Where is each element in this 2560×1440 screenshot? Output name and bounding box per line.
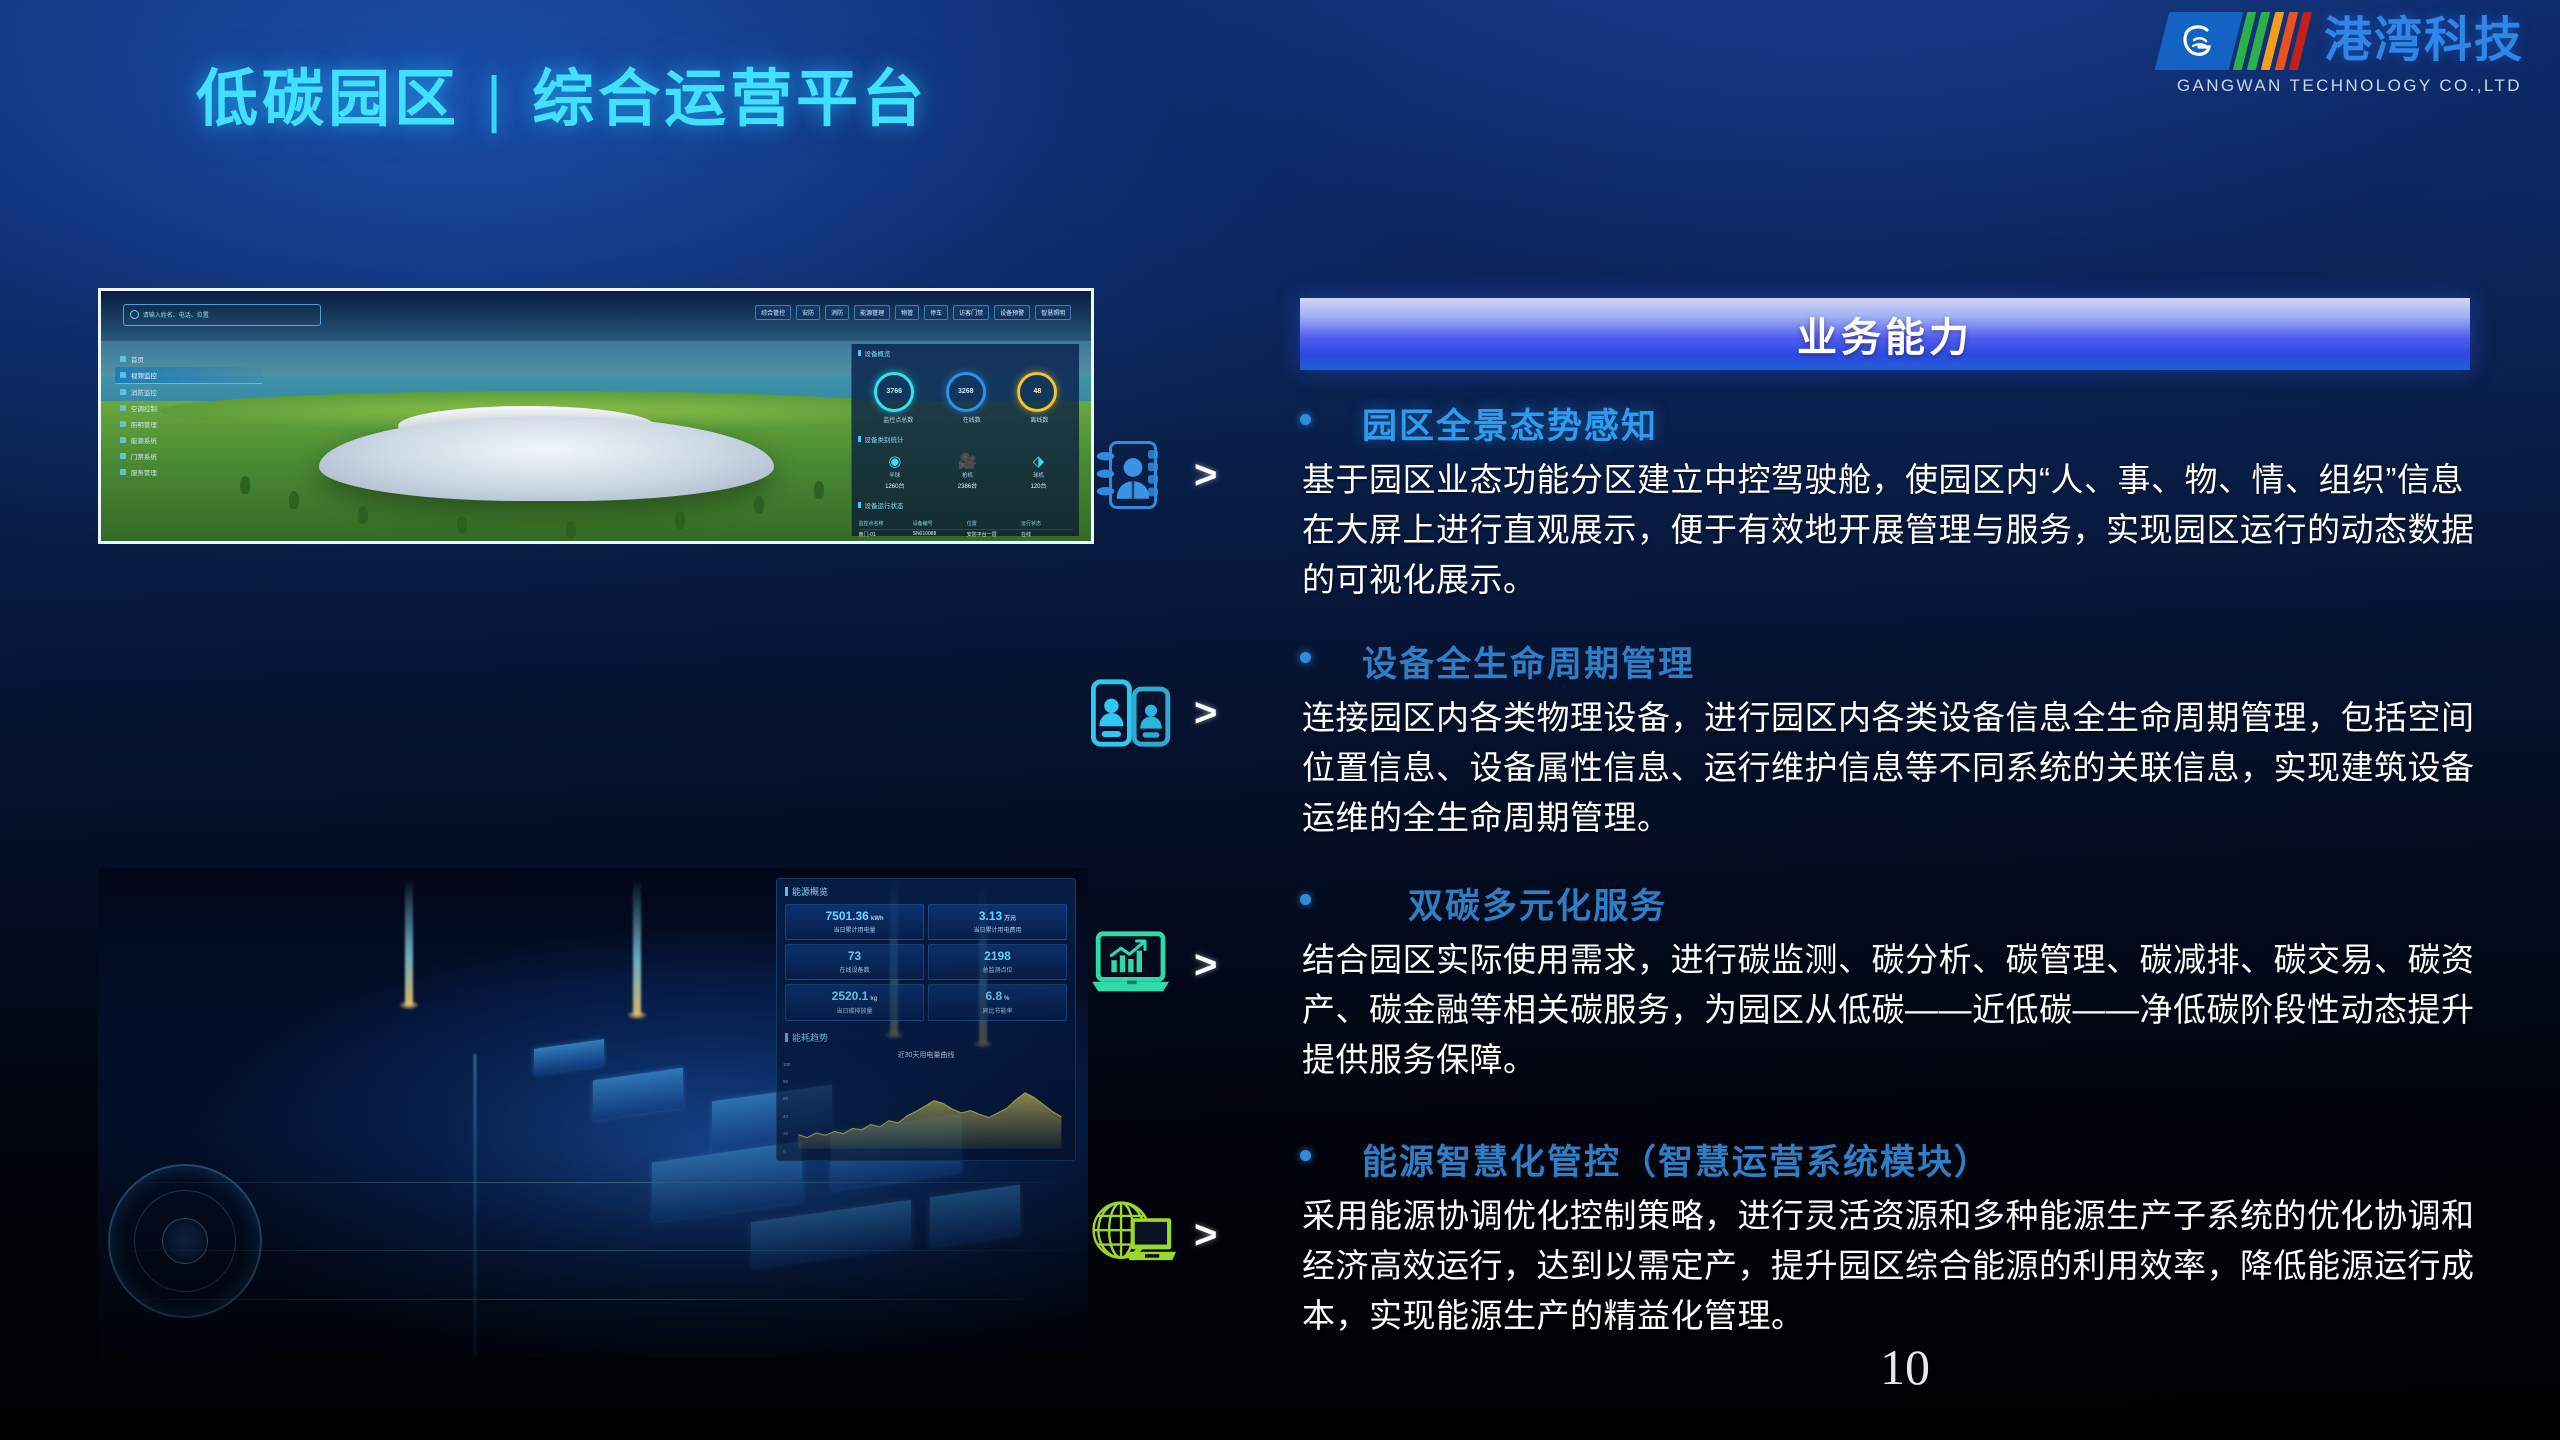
table-row: 南门-02SN010089安防平台一层在线 [858, 541, 1073, 545]
capability-heading-2: 设备全生命周期管理 [1090, 636, 2490, 687]
capability-title-1: 园区全景态势感知 [1362, 398, 1658, 449]
kpi-unit: 万元 [1004, 916, 1016, 922]
stat-ring-labels: 监控点总数在线数离线数 [858, 415, 1073, 424]
logo-row: 港湾科技 [2162, 12, 2524, 70]
two-phones-people-icon [1090, 670, 1176, 756]
capability-block-4: > 能源智慧化管控（智慧运营系统模块） 采用能源协调优化控制策略，进行灵活资源和… [1090, 1134, 2490, 1374]
slide-root: 低碳园区|综合运营平台 港湾科技 GANGWAN TECHNOLOGY CO.,… [0, 0, 2560, 1440]
dashboard-nav-tab[interactable]: 物管 [895, 305, 919, 320]
capability-body-text-3: 结合园区实际使用需求，进行碳监测、碳分析、碳管理、碳减排、碳交易、碳资产、碳金融… [1302, 935, 2490, 1085]
bullet-icon-2 [1300, 652, 1311, 663]
device-type-item: ⬗球机120台 [1030, 454, 1046, 490]
chart-y-tick: 40 [783, 1114, 797, 1119]
logo-name-cn: 港湾科技 [2324, 17, 2524, 65]
dashboard-nav-tab[interactable]: 综合管控 [755, 305, 791, 320]
kpi-card: 2198总监测点位 [928, 944, 1067, 980]
table-header-cell: 监控点名称 [858, 520, 910, 527]
menu-item-icon [120, 453, 126, 459]
dashboard-nav-tab[interactable]: 智慧照明 [1035, 305, 1071, 320]
contact-book-icon [1090, 432, 1176, 518]
table-cell: 安防平台一层 [967, 542, 1019, 544]
table-cell: 安防平台一层 [967, 531, 1019, 538]
logo-name-en: GANGWAN TECHNOLOGY CO.,LTD [2177, 76, 2522, 96]
kpi-card: 2520.1kg当日碳排放量 [785, 984, 924, 1020]
chevron-right-icon-1: > [1194, 455, 1217, 495]
dashboard-nav-tab[interactable]: 停车 [924, 305, 948, 320]
page-title-sub: 综合运营平台 [532, 65, 928, 134]
menu-item-icon [120, 389, 126, 395]
chart-area [798, 1092, 1061, 1148]
dashboard-nav-tab[interactable]: 访客门禁 [953, 305, 989, 320]
devices-title: 设备类别统计 [858, 434, 1073, 444]
kpi-card: 7501.36kWh当日累计用电量 [785, 904, 924, 940]
device-type-label: 半球 [889, 471, 900, 479]
capability-block-3: > 双碳多元化服务 结合园区实际使用需求，进行碳监测、碳分析、碳管理、碳减排、碳… [1090, 878, 2490, 1128]
dashboard-menu-item[interactable]: 服务管理 [115, 464, 264, 480]
logo-g-mark-icon [2155, 12, 2243, 70]
stat-ring-label: 监控点总数 [883, 415, 913, 424]
device-type-value: 1260台 [885, 481, 904, 490]
search-placeholder: 请输入姓名、电话、位置 [143, 310, 209, 319]
device-status-table: 监控点名称设备编号位置运行状态 南门-01SN010088安防平台一层在线南门-… [858, 519, 1073, 545]
dashboard-menu-item[interactable]: 照明管理 [115, 416, 264, 432]
table-row: 南门-01SN010088安防平台一层在线 [858, 530, 1073, 541]
page-number: 10 [1880, 1338, 1930, 1396]
capability-heading-1: 园区全景态势感知 [1090, 398, 2490, 449]
kpi-value: 7501.36kWh [790, 910, 919, 923]
logo-stripes-icon [2240, 12, 2310, 70]
table-cell: SN010089 [913, 542, 965, 544]
digital-twin-canvas: 能源概览 7501.36kWh当日累计用电量3.13万元当日累计用电费用73在线… [98, 868, 1088, 1358]
device-type-value: 120台 [1030, 481, 1046, 490]
kpi-card: 6.8%同比节能率 [928, 984, 1067, 1020]
capability-block-1: > 园区全景态势感知 基于园区业态功能分区建立中控驾驶舱，使园区内“人、事、物、… [1090, 398, 2490, 630]
stat-ring-label: 离线数 [1030, 415, 1048, 424]
capability-body-1: 基于园区业态功能分区建立中控驾驶舱，使园区内“人、事、物、情、组织”信息在大屏上… [1090, 455, 2490, 605]
dashboard-right-panel: 设备概览 3766326848 监控点总数在线数离线数 设备类别统计 ◉半球12… [851, 344, 1079, 537]
kpi-label: 当日碳排放量 [790, 1006, 919, 1015]
capability-icon-column-4: > [1090, 1192, 1290, 1278]
energy-overview-panel: 能源概览 7501.36kWh当日累计用电量3.13万元当日累计用电费用73在线… [776, 878, 1076, 1161]
chart-y-tick: 0 [783, 1149, 797, 1154]
table-cell: 在线 [1021, 531, 1073, 538]
kpi-card: 3.13万元当日累计用电费用 [928, 904, 1067, 940]
capability-icon-column-2: > [1090, 670, 1290, 756]
right-panel-title: 设备概览 [858, 348, 1073, 358]
kpi-unit: kWh [871, 916, 884, 922]
dashboard-menu-item[interactable]: 视频监控 [115, 367, 264, 384]
chart-y-tick: 80 [783, 1079, 797, 1084]
kpi-value: 3.13万元 [933, 910, 1062, 923]
menu-item-label: 视频监控 [131, 370, 157, 380]
stat-ring: 3766 [874, 372, 914, 412]
stat-ring: 3268 [946, 372, 986, 412]
kpi-value: 2520.1kg [790, 990, 919, 1003]
bullet-icon-3 [1300, 894, 1311, 905]
capability-title-4: 能源智慧化管控（智慧运营系统模块） [1362, 1134, 1991, 1185]
page-title-divider: | [460, 65, 532, 134]
kpi-label: 当日累计用电费用 [933, 925, 1062, 934]
kpi-label: 总监测点位 [933, 965, 1062, 974]
capability-body-text-4: 采用能源协调优化控制策略，进行灵活资源和多种能源生产子系统的优化协调和经济高效运… [1302, 1191, 2490, 1341]
device-type-label: 球机 [1033, 471, 1044, 479]
kpi-grid: 7501.36kWh当日累计用电量3.13万元当日累计用电费用73在线设备数21… [785, 904, 1067, 1021]
kpi-label: 当日累计用电量 [790, 925, 919, 934]
menu-item-label: 能源系统 [131, 435, 157, 445]
laptop-chart-icon [1090, 922, 1176, 1008]
menu-item-icon [120, 356, 126, 362]
capability-icon-column-3: > [1090, 922, 1290, 1008]
kpi-value: 73 [790, 950, 919, 963]
kpi-card: 73在线设备数 [785, 944, 924, 980]
kpi-unit: kg [870, 996, 877, 1002]
kpi-unit: % [1004, 996, 1009, 1002]
menu-item-label: 门禁系统 [131, 451, 157, 461]
chart-y-tick: 20 [783, 1131, 797, 1136]
search-icon [130, 310, 139, 319]
menu-item-icon [120, 437, 126, 443]
page-title: 低碳园区|综合运营平台 [196, 48, 928, 138]
chart-y-tick: 100 [783, 1062, 797, 1067]
dashboard-nav-tabs[interactable]: 综合管控安防消防能源管理物管停车访客门禁设备预警智慧照明 [755, 305, 1071, 320]
device-type-item: 🎥枪机2386台 [958, 454, 977, 490]
capability-icon-column-1: > [1090, 432, 1290, 518]
energy-chart: 能耗趋势 近30天用电量曲线 100806040200 [785, 1031, 1067, 1154]
dashboard-menu-item[interactable]: 空调控制 [115, 400, 264, 416]
chevron-right-icon-4: > [1194, 1215, 1217, 1255]
table-cell: 在线 [1021, 542, 1073, 544]
menu-item-label: 空调控制 [131, 403, 157, 413]
device-type-label: 枪机 [962, 471, 973, 479]
capabilities-header-bar: 业务能力 [1300, 298, 2470, 370]
chart-legend: 近30天用电量曲线 [785, 1050, 1067, 1060]
globe-laptop-icon [1090, 1192, 1176, 1278]
dashboard-nav-tab[interactable]: 消防 [825, 305, 849, 320]
table-body: 南门-01SN010088安防平台一层在线南门-02SN010089安防平台一层… [858, 530, 1073, 545]
table-cell: SN010088 [913, 531, 965, 538]
bullet-icon-1 [1300, 414, 1311, 425]
stat-ring: 48 [1017, 372, 1057, 412]
kpi-label: 同比节能率 [933, 1006, 1062, 1015]
hud-radial-widget [108, 1164, 262, 1318]
kpi-value: 6.8% [933, 990, 1062, 1003]
menu-item-label: 照明管理 [131, 419, 157, 429]
capability-title-2: 设备全生命周期管理 [1362, 636, 1695, 687]
device-type-value: 2386台 [958, 481, 977, 490]
stat-rings: 3766326848 [858, 372, 1073, 412]
device-type-list: ◉半球1260台🎥枪机2386台⬗球机120台 [858, 454, 1073, 490]
capability-body-text-2: 连接园区内各类物理设备，进行园区内各类设备信息全生命周期管理，包括空间位置信息、… [1302, 693, 2490, 843]
capability-heading-3: 双碳多元化服务 [1090, 878, 2490, 929]
capabilities-header-title: 业务能力 [1797, 305, 1973, 363]
ptz-camera-icon: ⬗ [1033, 454, 1045, 469]
table-title: 设备运行状态 [858, 500, 1073, 510]
device-type-item: ◉半球1260台 [885, 454, 904, 490]
page-title-main: 低碳园区 [196, 65, 460, 134]
table-header-cell: 位置 [967, 520, 1019, 527]
capability-title-3: 双碳多元化服务 [1408, 878, 1667, 929]
table-cell: 南门-01 [858, 531, 910, 538]
bullet-icon-4 [1300, 1150, 1311, 1161]
dashboard-menu-item[interactable]: 首页 [115, 351, 264, 367]
dashboard-menu-item[interactable]: 门禁系统 [115, 448, 264, 464]
menu-item-icon [120, 469, 126, 475]
search-input[interactable]: 请输入姓名、电话、位置 [123, 304, 321, 327]
stat-ring-label: 在线数 [963, 415, 981, 424]
chevron-right-icon-3: > [1194, 945, 1217, 985]
brand-logo: 港湾科技 GANGWAN TECHNOLOGY CO.,LTD [2162, 12, 2524, 96]
chart-plot-area: 100806040200 [785, 1062, 1067, 1154]
dashboard-menu-item[interactable]: 消防监控 [115, 384, 264, 400]
chart-y-ticks: 100806040200 [783, 1062, 797, 1154]
menu-item-icon [120, 421, 126, 427]
capability-heading-4: 能源智慧化管控（智慧运营系统模块） [1090, 1134, 2490, 1185]
table-header-cell: 运行状态 [1021, 520, 1073, 527]
menu-item-icon [120, 372, 126, 378]
bullet-camera-icon: 🎥 [958, 454, 977, 469]
capability-block-2: > 设备全生命周期管理 连接园区内各类物理设备，进行园区内各类设备信息全生命周期… [1090, 636, 2490, 872]
dashboard-menu-item[interactable]: 能源系统 [115, 432, 264, 448]
chevron-right-icon-2: > [1194, 693, 1217, 733]
menu-item-label: 首页 [131, 354, 144, 364]
dashboard-nav-tab[interactable]: 设备预警 [994, 305, 1030, 320]
kpi-label: 在线设备数 [790, 965, 919, 974]
table-header-row: 监控点名称设备编号位置运行状态 [858, 519, 1073, 530]
capability-blocks: > 园区全景态势感知 基于园区业态功能分区建立中控驾驶舱，使园区内“人、事、物、… [1090, 398, 2490, 1380]
capability-body-3: 结合园区实际使用需求，进行碳监测、碳分析、碳管理、碳减排、碳交易、碳资产、碳金融… [1090, 935, 2490, 1085]
table-cell: 南门-02 [858, 542, 910, 544]
energy-panel-title: 能源概览 [785, 885, 1067, 898]
menu-item-label: 服务管理 [131, 467, 157, 477]
dashboard-nav-tab[interactable]: 安防 [796, 305, 820, 320]
dome-camera-icon: ◉ [888, 454, 901, 469]
capability-body-text-1: 基于园区业态功能分区建立中控驾驶舱，使园区内“人、事、物、情、组织”信息在大屏上… [1302, 455, 2490, 605]
capability-body-4: 采用能源协调优化控制策略，进行灵活资源和多种能源生产子系统的优化协调和经济高效运… [1090, 1191, 2490, 1341]
menu-item-icon [120, 405, 126, 411]
capability-body-2: 连接园区内各类物理设备，进行园区内各类设备信息全生命周期管理，包括空间位置信息、… [1090, 693, 2490, 843]
screenshot-top-dashboard: 请输入姓名、电话、位置 综合管控安防消防能源管理物管停车访客门禁设备预警智慧照明… [98, 288, 1094, 544]
energy-chart-title: 能耗趋势 [785, 1031, 1067, 1044]
dashboard-canvas: 请输入姓名、电话、位置 综合管控安防消防能源管理物管停车访客门禁设备预警智慧照明… [101, 291, 1091, 541]
kpi-value: 2198 [933, 950, 1062, 963]
screenshot-bottom-digital-twin: 能源概览 7501.36kWh当日累计用电量3.13万元当日累计用电费用73在线… [98, 868, 1088, 1358]
dashboard-nav-tab[interactable]: 能源管理 [854, 305, 890, 320]
table-header-cell: 设备编号 [913, 520, 965, 527]
dashboard-sidebar-menu[interactable]: 首页视频监控消防监控空调控制照明管理能源系统门禁系统服务管理 [115, 351, 264, 480]
chart-y-tick: 60 [783, 1096, 797, 1101]
menu-item-label: 消防监控 [131, 387, 157, 397]
